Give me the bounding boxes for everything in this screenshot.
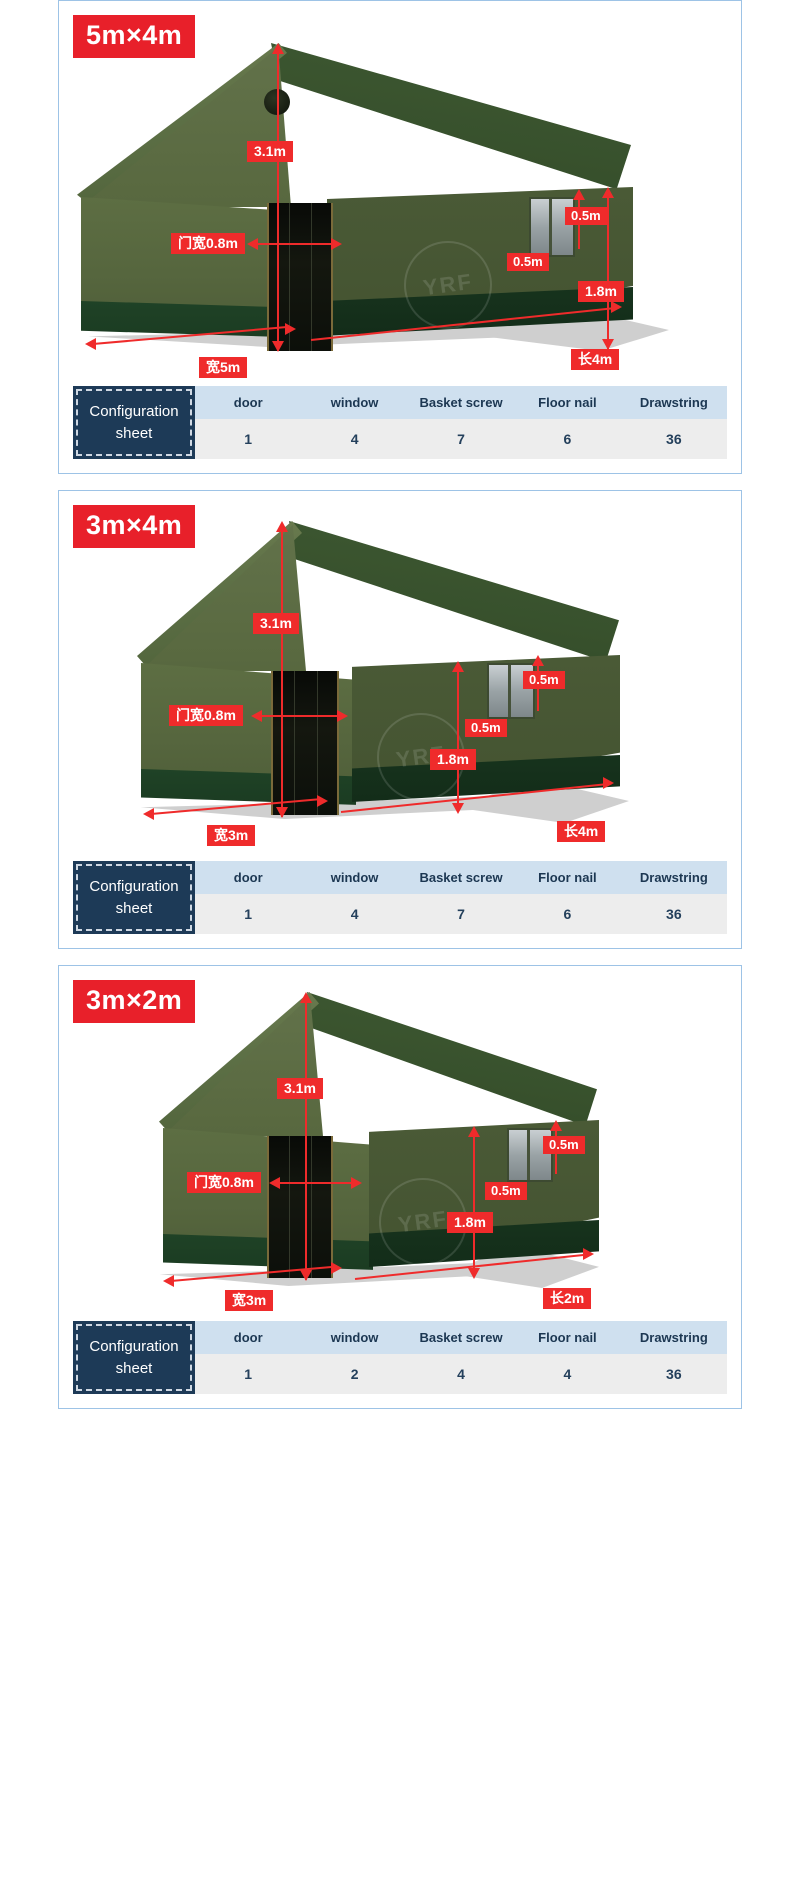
tent-illustration: YRF 3.1m 门宽0.8m 1.8m 0.5m 0.5m [59,1,741,386]
door-width-arrow-right [331,238,342,250]
config-table: door window Basket screw Floor nail Draw… [195,1321,727,1394]
table-header-row: door window Basket screw Floor nail Draw… [195,386,727,419]
door-width-label: 门宽0.8m [169,705,243,726]
column-header-basket-screw: Basket screw [408,386,514,419]
config-sheet-label: Configuration sheet [73,861,195,934]
table-header-row: door window Basket screw Floor nail Draw… [195,861,727,894]
door-width-dimension-line [257,715,343,717]
spec-panel-5x4: 5m×4m [58,0,742,474]
length-arrow-right [603,777,614,789]
config-title-line1: Configuration [89,1336,178,1358]
config-title-line1: Configuration [89,401,178,423]
length-arrow-right [583,1248,594,1260]
config-table: door window Basket screw Floor nail Draw… [195,861,727,934]
column-header-drawstring: Drawstring [621,861,727,894]
eave-arrow-up [602,187,614,198]
value-window: 4 [301,419,407,459]
door-seam [317,671,318,815]
value-drawstring: 36 [621,894,727,934]
value-window: 2 [301,1354,407,1394]
column-header-door: door [195,861,301,894]
height-dimension-line [277,53,279,351]
door-seam [289,1136,290,1278]
product-spec-page: 5m×4m [0,0,800,1888]
width-label: 宽5m [199,357,247,378]
config-sheet-label: Configuration sheet [73,386,195,459]
window-mullion [527,1130,530,1180]
eave-height-dimension-line [473,1136,475,1276]
width-arrow-left [163,1275,174,1287]
configuration-sheet: Configuration sheet door window Basket s… [59,386,741,473]
value-door: 1 [195,419,301,459]
config-sheet-label: Configuration sheet [73,1321,195,1394]
height-label: 3.1m [247,141,293,162]
door-width-arrow-right [337,710,348,722]
column-header-door: door [195,1321,301,1354]
eave-arrow-up [452,661,464,672]
height-label: 3.1m [253,613,299,634]
window-height-label: 0.5m [565,207,607,225]
window-width-label: 0.5m [507,253,549,271]
door-width-arrow-left [247,238,258,250]
eave-height-label: 1.8m [447,1212,493,1233]
eave-height-dimension-line [607,197,609,349]
window-height-arrow [550,1120,562,1131]
height-label: 3.1m [277,1078,323,1099]
table-header-row: door window Basket screw Floor nail Draw… [195,1321,727,1354]
height-arrow-down [300,1270,312,1281]
width-label: 宽3m [207,825,255,846]
config-title-line2: sheet [116,423,153,445]
configuration-sheet: Configuration sheet door window Basket s… [59,861,741,948]
width-arrow-right [317,795,328,807]
height-dimension-line [281,531,283,817]
column-header-drawstring: Drawstring [621,386,727,419]
window-mullion [508,665,511,717]
window-height-label: 0.5m [543,1136,585,1154]
door-width-label: 门宽0.8m [187,1172,261,1193]
length-label: 长4m [557,821,605,842]
column-header-floor-nail: Floor nail [514,386,620,419]
value-basket-screw: 4 [408,1354,514,1394]
column-header-window: window [301,386,407,419]
window-width-label: 0.5m [485,1182,527,1200]
height-arrow-up [272,43,284,54]
column-header-basket-screw: Basket screw [408,861,514,894]
door-width-arrow-right [351,1177,362,1189]
height-dimension-line [305,1002,307,1280]
length-label: 长2m [543,1288,591,1309]
width-arrow-left [143,808,154,820]
value-basket-screw: 7 [408,419,514,459]
size-badge: 3m×2m [73,980,195,1023]
value-floor-nail: 6 [514,419,620,459]
config-table: door window Basket screw Floor nail Draw… [195,386,727,459]
eave-arrow-down [452,803,464,814]
width-label: 宽3m [225,1290,273,1311]
eave-height-dimension-line [457,671,459,811]
value-floor-nail: 6 [514,894,620,934]
table-row: 1 4 7 6 36 [195,894,727,934]
column-header-window: window [301,861,407,894]
column-header-floor-nail: Floor nail [514,1321,620,1354]
height-arrow-down [276,807,288,818]
window-height-label: 0.5m [523,671,565,689]
window-mullion [549,199,552,255]
door-width-label: 门宽0.8m [171,233,245,254]
door-width-arrow-left [269,1177,280,1189]
size-badge: 3m×4m [73,505,195,548]
door-seam [311,1136,312,1278]
width-arrow-right [285,323,296,335]
gable-front [81,47,291,207]
spec-panel-3x4: 3m×4m YRF 3.1m [58,490,742,949]
column-header-basket-screw: Basket screw [408,1321,514,1354]
value-floor-nail: 4 [514,1354,620,1394]
tent-window [529,197,575,257]
column-header-door: door [195,386,301,419]
window-height-arrow [573,189,585,200]
size-badge: 5m×4m [73,15,195,58]
door-seam [311,203,312,351]
spec-panel-3x2: 3m×2m YRF 3.1m [58,965,742,1409]
value-door: 1 [195,894,301,934]
length-label: 长4m [571,349,619,370]
door-width-arrow-left [251,710,262,722]
eave-height-label: 1.8m [578,281,624,302]
column-header-floor-nail: Floor nail [514,861,620,894]
width-arrow-right [331,1262,342,1274]
eave-arrow-down [468,1268,480,1279]
config-title-line1: Configuration [89,876,178,898]
window-height-arrow [532,655,544,666]
door-width-dimension-line [253,243,337,245]
eave-arrow-up [468,1126,480,1137]
column-header-window: window [301,1321,407,1354]
width-arrow-left [85,338,96,350]
length-arrow-right [611,301,622,313]
table-row: 1 4 7 6 36 [195,419,727,459]
config-title-line2: sheet [116,1358,153,1380]
door-seam [294,671,295,815]
door-width-dimension-line [275,1182,357,1184]
value-door: 1 [195,1354,301,1394]
value-drawstring: 36 [621,419,727,459]
value-drawstring: 36 [621,1354,727,1394]
window-width-label: 0.5m [465,719,507,737]
roof-right-slope [289,521,619,681]
value-window: 4 [301,894,407,934]
config-title-line2: sheet [116,898,153,920]
height-arrow-up [300,992,312,1003]
table-row: 1 2 4 4 36 [195,1354,727,1394]
column-header-drawstring: Drawstring [621,1321,727,1354]
height-arrow-down [272,341,284,352]
eave-height-label: 1.8m [430,749,476,770]
value-basket-screw: 7 [408,894,514,934]
height-arrow-up [276,521,288,532]
tent-door [267,1136,333,1278]
configuration-sheet: Configuration sheet door window Basket s… [59,1321,741,1408]
roof-right-slope [271,43,631,213]
